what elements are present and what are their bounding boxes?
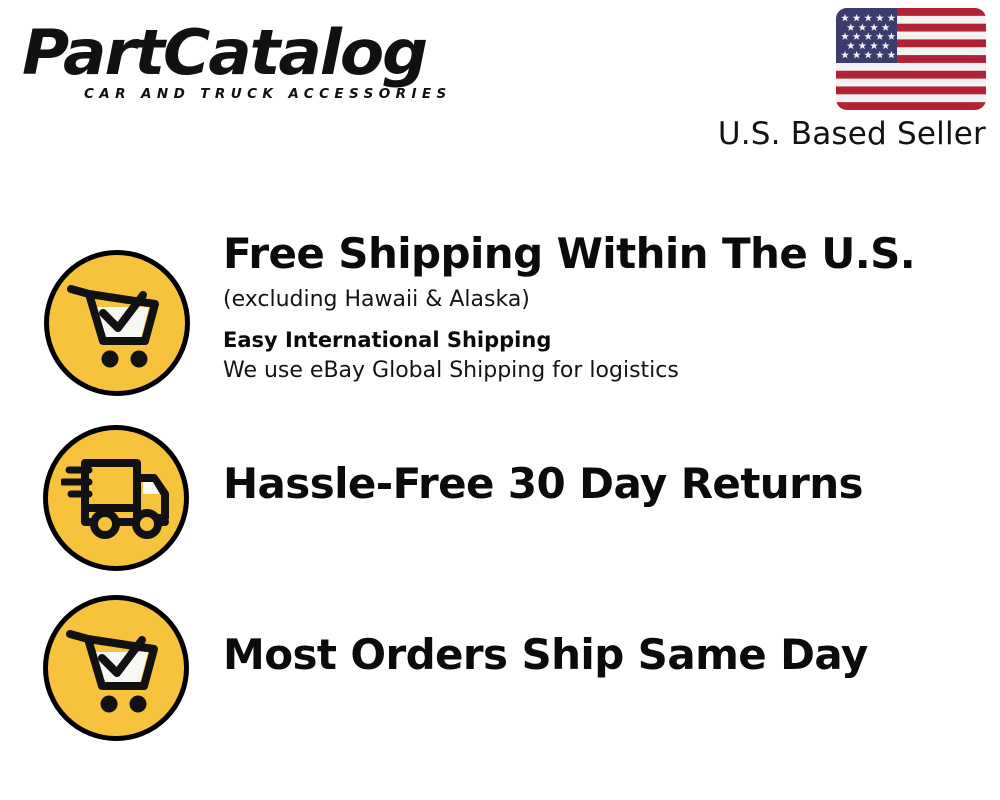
- feature-subtext: We use eBay Global Shipping for logistic…: [223, 357, 983, 385]
- feature-heading: Free Shipping Within The U.S.: [223, 232, 983, 276]
- delivery-truck-icon: [43, 425, 189, 571]
- seller-label: U.S. Based Seller: [714, 118, 986, 151]
- feature-text-block: Most Orders Ship Same Day: [223, 633, 983, 677]
- feature-note: (excluding Hawaii & Alaska): [223, 286, 983, 314]
- feature-heading: Most Orders Ship Same Day: [223, 633, 983, 677]
- us-flag-icon: [836, 8, 986, 110]
- seller-badge: U.S. Based Seller: [714, 8, 986, 151]
- brand-logo[interactable]: PartCatalog CAR AND TRUCK ACCESSORIES: [22, 22, 492, 114]
- brand-wordmark: PartCatalog: [22, 22, 511, 84]
- shopping-cart-check-icon: [44, 250, 190, 396]
- feature-subheading: Easy International Shipping: [223, 327, 983, 353]
- shopping-cart-check-icon: [43, 595, 189, 741]
- feature-text-block: Free Shipping Within The U.S. (excluding…: [223, 232, 983, 385]
- feature-heading: Hassle-Free 30 Day Returns: [223, 462, 983, 506]
- feature-text-block: Hassle-Free 30 Day Returns: [223, 462, 983, 506]
